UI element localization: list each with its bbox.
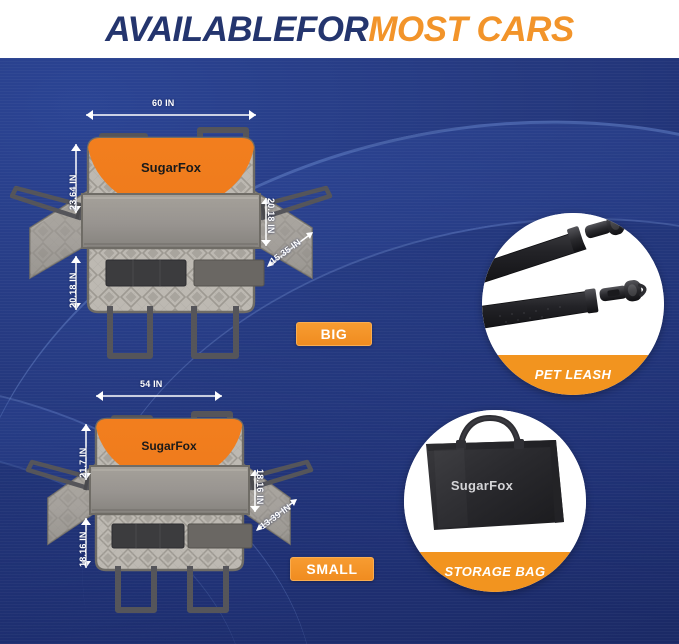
product-diagram-small: SugarFox (18, 368, 338, 644)
dimension-arrow-width-big (86, 110, 256, 120)
leash-illustration (482, 213, 664, 355)
pocket-right-small (188, 524, 252, 548)
anchor-straps-small (118, 566, 226, 610)
brand-logo-small: SugarFox (141, 439, 197, 453)
bottom-skirt-small (96, 514, 252, 570)
inset-storage-bag: SugarFox STORAGE BAG (404, 410, 586, 592)
pet-leash-photo (482, 213, 664, 355)
seat-panel-big (82, 194, 260, 248)
big-seat-illustration: SugarFox (10, 88, 340, 388)
pocket-right-big (194, 260, 264, 286)
size-badge-small-label: SMALL (306, 561, 357, 577)
anchor-straps-big (110, 306, 236, 356)
storage-bag-label: STORAGE BAG (445, 564, 546, 579)
pocket-left-big (106, 260, 186, 286)
header-banner: AVAILABLEFORMOST CARS (0, 0, 679, 58)
size-badge-big[interactable]: BIG (296, 322, 372, 346)
page-title-part1: AVAILABLEFOR (105, 10, 368, 49)
pocket-left-small (112, 524, 184, 548)
dim-label-bottom-small: 18.16 IN (78, 531, 88, 567)
dim-label-depth-big: 20.18 IN (266, 198, 276, 234)
dim-label-backrest-big: 23.64 IN (68, 174, 78, 210)
product-diagram-big: SugarFox (10, 88, 340, 388)
storage-bag-photo: SugarFox (404, 410, 586, 552)
page-title: AVAILABLEFORMOST CARS (105, 12, 573, 47)
infographic-page: AVAILABLEFORMOST CARS (0, 0, 679, 644)
dim-label-bottom-big: 20.18 IN (68, 272, 78, 308)
bottom-skirt-big (88, 248, 264, 312)
bag-illustration: SugarFox (404, 410, 586, 552)
content-stage: SugarFox (0, 58, 679, 644)
dim-label-width-small: 54 IN (140, 379, 163, 389)
bag-brand-logo: SugarFox (451, 478, 514, 493)
dim-label-backrest-small: 21.7 IN (78, 448, 88, 478)
dimension-arrow-width-small (96, 391, 222, 401)
inset-pet-leash: PET LEASH (482, 213, 664, 395)
size-badge-small[interactable]: SMALL (290, 557, 374, 581)
dim-label-width-big: 60 IN (152, 98, 175, 108)
dim-label-depth-small: 18.16 IN (255, 469, 265, 505)
pet-leash-label-band: PET LEASH (482, 355, 664, 395)
page-title-part2: MOST CARS (368, 10, 574, 49)
size-badge-big-label: BIG (321, 326, 348, 342)
pet-leash-label: PET LEASH (535, 367, 612, 382)
brand-logo-big: SugarFox (141, 160, 202, 175)
seat-panel-small (90, 466, 249, 514)
storage-bag-label-band: STORAGE BAG (404, 552, 586, 592)
